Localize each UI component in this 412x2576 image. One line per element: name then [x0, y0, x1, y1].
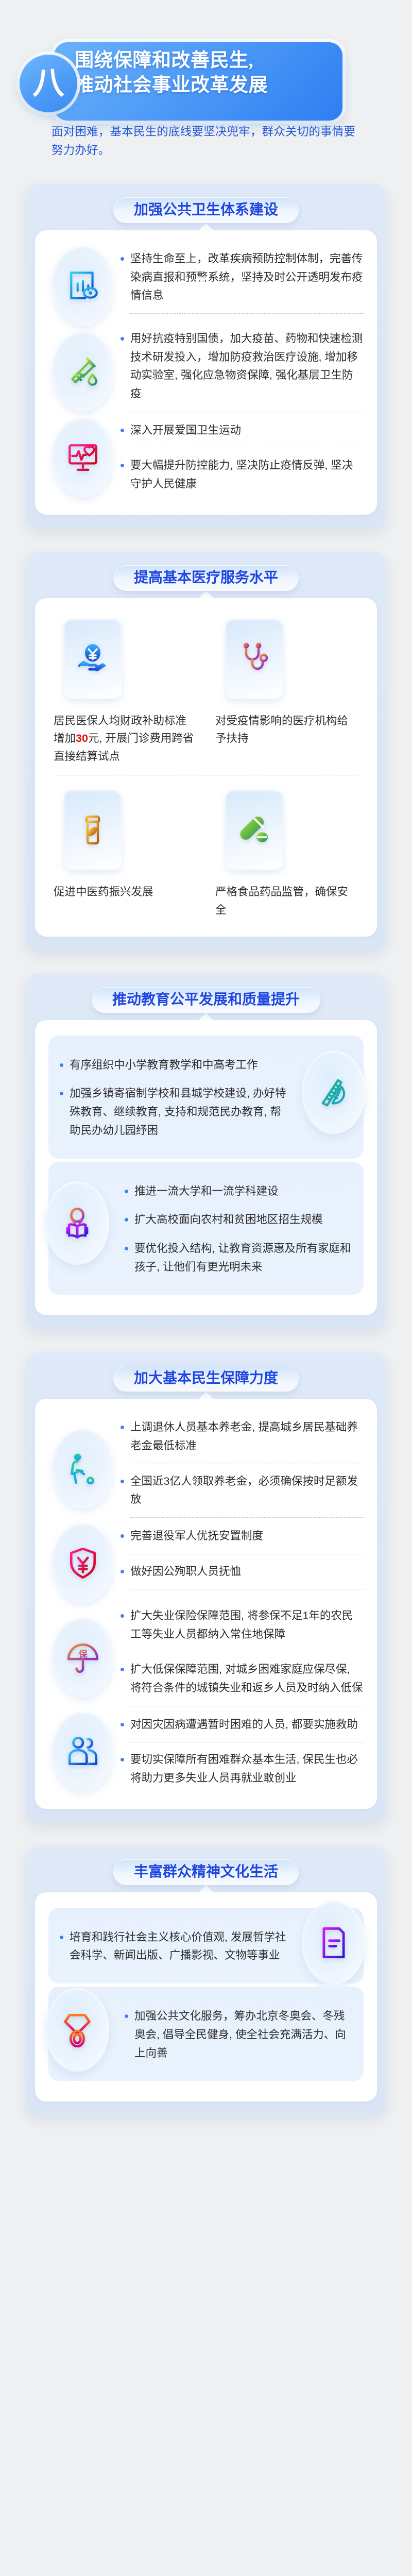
section-2: 提高基本医疗服务水平居民医保人均财政补助标准增加30元, 开展门诊费用跨省直接结…: [26, 552, 386, 950]
icon-cell: [48, 417, 117, 497]
bullet-dot: [121, 1426, 124, 1429]
section-panel: 居民医保人均财政补助标准增加30元, 开展门诊费用跨省直接结算试点对受疫情影响的…: [35, 598, 377, 937]
bullet-dot: [121, 337, 124, 341]
section-3: 推动教育公平发展和质量提升有序组织中小学教育教学和中高考工作加强乡镇寄宿制学校和…: [26, 974, 386, 1329]
tile-caption: 对受疫情影响的医疗机构给予扶持: [213, 712, 360, 748]
capsule-pill-icon: [226, 790, 283, 870]
section-title: 丰富群众精神文化生活: [113, 1859, 299, 1885]
bullet-dot: [121, 1534, 124, 1538]
section-panel: 有序组织中小学教育教学和中高考工作加强乡镇寄宿制学校和县城学校建设, 办好特殊教…: [35, 1020, 377, 1316]
section-title: 加强公共卫生体系建设: [113, 197, 299, 223]
bullet-item: 上调退休人员基本养老金, 提高城乡居民基础养老金最低标准: [121, 1415, 364, 1458]
bullet-text: 扩大失业保险保障范围, 将参保不足1年的农民工等失业人员都纳入常住地保障: [130, 1607, 364, 1643]
bullet-text: 要优化投入结构, 让教育资源惠及所有家庭和孩子, 让他们有更光明未来: [134, 1240, 352, 1276]
grid-cell: 严格食品药品监管，确保安全: [213, 787, 360, 919]
bullet-dot: [125, 1218, 128, 1222]
dashed-divider: [130, 313, 364, 314]
tinted-block: 加强公共文化服务，筹办北京冬奥会、冬残奥会, 倡导全民健身, 使全社会充满活力、…: [48, 1987, 364, 2081]
tile-caption: 居民医保人均财政补助标准增加30元, 开展门诊费用跨省直接结算试点: [51, 712, 199, 766]
bullet-dot: [121, 1668, 124, 1671]
bullet-item: 扩大失业保险保障范围, 将参保不足1年的农民工等失业人员都纳入常住地保障: [121, 1604, 364, 1647]
dashed-divider: [130, 1706, 364, 1706]
bullet-dot: [121, 1570, 124, 1573]
section-panel: 坚持生命至上，改革疾病预防控制体制，完善传染病直报和预警系统，坚持及时公开透明发…: [35, 230, 377, 515]
text-cell: 扩大失业保险保障范围, 将参保不足1年的农民工等失业人员都纳入常住地保障扩大低保…: [121, 1603, 364, 1711]
two-people-icon: [52, 1711, 114, 1791]
bullet-item: 加强公共文化服务，筹办北京冬奥会、冬残奥会, 倡导全民健身, 使全社会充满活力、…: [125, 2002, 352, 2067]
bullet-item: 要优化投入结构, 让教育资源惠及所有家庭和孩子, 让他们有更光明未来: [125, 1234, 352, 1281]
dashed-divider: [130, 448, 364, 448]
hand-yuan-coin-icon: [64, 619, 122, 699]
bullet-text: 深入开展爱国卫生运动: [130, 421, 364, 440]
tinted-block: 有序组织中小学教育教学和中高考工作加强乡镇寄宿制学校和县城学校建设, 办好特殊教…: [48, 1036, 364, 1159]
text-cell: 用好抗疫特别国债，加大疫苗、药物和快速检测技术研发投入，增加防疫救治医疗设施, …: [121, 326, 364, 417]
bullet-item: 要大幅提升防控能力, 坚决防止疫情反弹, 坚决守护人民健康: [121, 453, 364, 496]
medicine-bottle-leaf-icon: [64, 790, 122, 870]
bullet-text: 做好因公殉职人员抚恤: [130, 1563, 364, 1581]
report-chart-eye-icon: [52, 246, 114, 326]
syringe-vaccine-icon: [52, 331, 114, 411]
panel-notch: [35, 590, 377, 598]
grid-cell: 对受疫情影响的医疗机构给予扶持: [213, 616, 360, 766]
tile-caption: 严格食品药品监管，确保安全: [213, 883, 360, 919]
bullet-text: 有序组织中小学教育教学和中高考工作: [70, 1056, 291, 1075]
stacked-rows: 上调退休人员基本养老金, 提高城乡居民基础养老金最低标准全国近3亿人领取养老金，…: [48, 1414, 364, 1791]
icon-cell: [48, 1711, 117, 1791]
panel-notch: [35, 1884, 377, 1892]
bullet-text: 坚持生命至上，改革疾病预防控制体制，完善传染病直报和预警系统，坚持及时公开透明发…: [130, 250, 364, 305]
bullet-item: 对因灾因病遭遇暂时困难的人员, 都要实施救助: [121, 1713, 364, 1737]
svg-text:保: 保: [78, 1649, 88, 1659]
bullet-text: 对因灾因病遭遇暂时困难的人员, 都要实施救助: [130, 1716, 364, 1734]
section-1: 加强公共卫生体系建设坚持生命至上，改革疾病预防控制体制，完善传染病直报和预警系统…: [26, 184, 386, 528]
section-number-badge: 八: [20, 55, 77, 112]
caption-highlight: 30: [76, 732, 88, 744]
bullet-text: 加强乡镇寄宿制学校和县城学校建设, 办好特殊教育、继续教育, 支持和规范民办教育…: [70, 1084, 291, 1140]
tinted-block: 培育和践行社会主义核心价值观, 发展哲学社会科学、新闻出版、广播影视、文物等事业: [48, 1908, 364, 1984]
bullet-item: 用好抗疫特别国债，加大疫苗、药物和快速检测技术研发投入，增加防疫救治医疗设施, …: [121, 327, 364, 406]
icon-cell: [48, 326, 117, 417]
bullet-item: 扩大低保保障范围, 对城乡困难家庭应保尽保, 将符合条件的城镇失业和返乡人员及时…: [121, 1657, 364, 1700]
section-title: 提高基本医疗服务水平: [113, 565, 299, 591]
heart-monitor-icon: [52, 417, 114, 497]
dashed-divider: [130, 1554, 364, 1554]
text-cell: 上调退休人员基本养老金, 提高城乡居民基础养老金最低标准全国近3亿人领取养老金，…: [121, 1414, 364, 1523]
bullet-text: 扩大低保保障范围, 对城乡困难家庭应保尽保, 将符合条件的城镇失业和返乡人员及时…: [130, 1660, 364, 1697]
medal-icon: [45, 1988, 109, 2072]
bullet-text: 完善退役军人优抚安置制度: [130, 1527, 364, 1546]
bullet-text: 扩大高校面向农村和贫困地区招生规模: [134, 1211, 352, 1229]
dashed-divider: [130, 412, 364, 412]
shield-yuan-icon: [52, 1523, 114, 1603]
section-panel: 培育和践行社会主义核心价值观, 发展哲学社会科学、新闻出版、广播影视、文物等事业…: [35, 1892, 377, 2102]
text-cell: 深入开展爱国卫生运动要大幅提升防控能力, 坚决防止疫情反弹, 坚决守护人民健康: [121, 417, 364, 497]
grid-divider: [54, 775, 358, 775]
bullet-dot: [121, 1480, 124, 1483]
bullet-dot: [125, 2014, 128, 2018]
text-cell: 完善退役军人优抚安置制度做好因公殉职人员抚恤: [121, 1523, 364, 1603]
panel-notch: [35, 222, 377, 230]
dashed-divider: [130, 1652, 364, 1652]
bullet-item: 培育和践行社会主义核心价值观, 发展哲学社会科学、新闻出版、广播影视、文物等事业: [60, 1923, 291, 1970]
student-reading-book-icon: [45, 1181, 109, 1265]
bullet-text: 培育和践行社会主义核心价值观, 发展哲学社会科学、新闻出版、广播影视、文物等事业: [70, 1928, 291, 1965]
bullet-text: 要大幅提升防控能力, 坚决防止疫情反弹, 坚决守护人民健康: [130, 456, 364, 493]
tile-caption: 促进中医药振兴发展: [51, 883, 156, 901]
tile-grid: 居民医保人均财政补助标准增加30元, 开展门诊费用跨省直接结算试点对受疫情影响的…: [48, 614, 364, 919]
bullet-dot: [60, 1936, 63, 1939]
panel-notch: [35, 1391, 377, 1399]
bullet-dot: [60, 1092, 63, 1095]
bullet-item: 坚持生命至上，改革疾病预防控制体制，完善传染病直报和预警系统，坚持及时公开透明发…: [121, 247, 364, 308]
bullet-item: 有序组织中小学教育教学和中高考工作: [60, 1051, 291, 1080]
section-title: 加大基本民生保障力度: [113, 1366, 299, 1392]
bullet-dot: [121, 1758, 124, 1761]
icon-cell: [48, 1523, 117, 1603]
bullet-list: 推进一流大学和一流学科建设扩大高校面向农村和贫困地区招生规模要优化投入结构, 让…: [125, 1175, 352, 1282]
section-4: 加大基本民生保障力度上调退休人员基本养老金, 提高城乡居民基础养老金最低标准全国…: [26, 1352, 386, 1822]
bullet-text: 用好抗疫特别国债，加大疫苗、药物和快速检测技术研发投入，增加防疫救治医疗设施, …: [130, 330, 364, 403]
tinted-block: 推进一流大学和一流学科建设扩大高校面向农村和贫困地区招生规模要优化投入结构, 让…: [48, 1162, 364, 1295]
umbrella-bao-icon: 保: [52, 1617, 114, 1697]
dashed-divider: [130, 1589, 364, 1589]
page-header: 八 围绕保障和改善民生, 推动社会事业改革发展: [0, 26, 412, 113]
page-title-line-1: 围绕保障和改善民生,: [75, 50, 253, 71]
bullet-dot: [60, 1063, 63, 1067]
bullet-item: 加强乡镇寄宿制学校和县城学校建设, 办好特殊教育、继续教育, 支持和规范民办教育…: [60, 1079, 291, 1145]
text-cell: 对因灾因病遭遇暂时困难的人员, 都要实施救助要切实保障所有困难群众基本生活, 保…: [121, 1711, 364, 1791]
bullet-dot: [121, 1614, 124, 1618]
stacked-rows: 坚持生命至上，改革疾病预防控制体制，完善传染病直报和预警系统，坚持及时公开透明发…: [48, 246, 364, 497]
dashed-divider: [130, 1464, 364, 1464]
bullet-list: 培育和践行社会主义核心价值观, 发展哲学社会科学、新闻出版、广播影视、文物等事业: [60, 1921, 291, 1970]
bullet-text: 上调退休人员基本养老金, 提高城乡居民基础养老金最低标准: [130, 1418, 364, 1455]
bullet-text: 要切实保障所有困难群众基本生活, 保民生也必将助力更多失业人员再就业敢创业: [130, 1751, 364, 1787]
bullet-text: 全国近3亿人领取养老金，必须确保按时足额发放: [130, 1472, 364, 1509]
bullet-item: 要切实保障所有困难群众基本生活, 保民生也必将助力更多失业人员再就业敢创业: [121, 1748, 364, 1790]
section-panel: 上调退休人员基本养老金, 提高城乡居民基础养老金最低标准全国近3亿人领取养老金，…: [35, 1399, 377, 1809]
grid-cell: 居民医保人均财政补助标准增加30元, 开展门诊费用跨省直接结算试点: [51, 616, 199, 766]
caption-text-before: 对受疫情影响的医疗机构给予扶持: [215, 715, 348, 745]
icon-cell: [48, 246, 117, 326]
bullet-item: 推进一流大学和一流学科建设: [125, 1177, 352, 1206]
section-title: 推动教育公平发展和质量提升: [92, 987, 320, 1013]
bullet-dot: [121, 464, 124, 467]
sections-container: 加强公共卫生体系建设坚持生命至上，改革疾病预防控制体制，完善传染病直报和预警系统…: [0, 184, 412, 2115]
dashed-divider: [130, 1517, 364, 1518]
bullet-dot: [121, 257, 124, 261]
bullet-item: 做好因公殉职人员抚恤: [121, 1560, 364, 1584]
dashed-divider: [130, 1742, 364, 1742]
section-5: 丰富群众精神文化生活培育和践行社会主义核心价值观, 发展哲学社会科学、新闻出版、…: [26, 1846, 386, 2115]
caption-text-before: 促进中医药振兴发展: [54, 886, 153, 898]
page-title-line-2: 推动社会事业改革发展: [75, 73, 332, 98]
section-number-text: 八: [32, 67, 64, 99]
bullet-list: 有序组织中小学教育教学和中高考工作加强乡镇寄宿制学校和县城学校建设, 办好特殊教…: [60, 1049, 291, 1145]
book-document-icon: [302, 1901, 366, 1985]
bullet-item: 深入开展爱国卫生运动: [121, 418, 364, 443]
grid-cell: 促进中医药振兴发展: [51, 787, 199, 919]
ruler-protractor-icon: [302, 1050, 366, 1134]
bullet-text: 加强公共文化服务，筹办北京冬奥会、冬残奥会, 倡导全民健身, 使全社会充满活力、…: [134, 2007, 352, 2062]
bullet-item: 全国近3亿人领取养老金，必须确保按时足额发放: [121, 1469, 364, 1512]
bullet-dot: [125, 1247, 128, 1250]
icon-cell: 保: [48, 1603, 117, 1711]
page-title: 围绕保障和改善民生, 推动社会事业改革发展: [75, 48, 332, 98]
bullet-dot: [125, 1190, 128, 1193]
bullet-dot: [121, 1723, 124, 1726]
bullet-text: 推进一流大学和一流学科建设: [134, 1182, 352, 1201]
bullet-item: 扩大高校面向农村和贫困地区招生规模: [125, 1206, 352, 1234]
stethoscope-icon: [226, 619, 283, 699]
bullet-list: 加强公共文化服务，筹办北京冬奥会、冬残奥会, 倡导全民健身, 使全社会充满活力、…: [125, 2000, 352, 2067]
bullet-item: 完善退役军人优抚安置制度: [121, 1524, 364, 1549]
panel-notch: [35, 1012, 377, 1020]
bullet-dot: [121, 429, 124, 432]
caption-text-before: 严格食品药品监管，确保安全: [215, 886, 348, 916]
text-cell: 坚持生命至上，改革疾病预防控制体制，完善传染病直报和预警系统，坚持及时公开透明发…: [121, 246, 364, 326]
icon-cell: [48, 1414, 117, 1523]
lead-paragraph: 面对困难，基本民生的底线要坚决兜牢，群众关切的事情要努力办好。: [51, 123, 360, 160]
elderly-walker-icon: [52, 1429, 114, 1509]
